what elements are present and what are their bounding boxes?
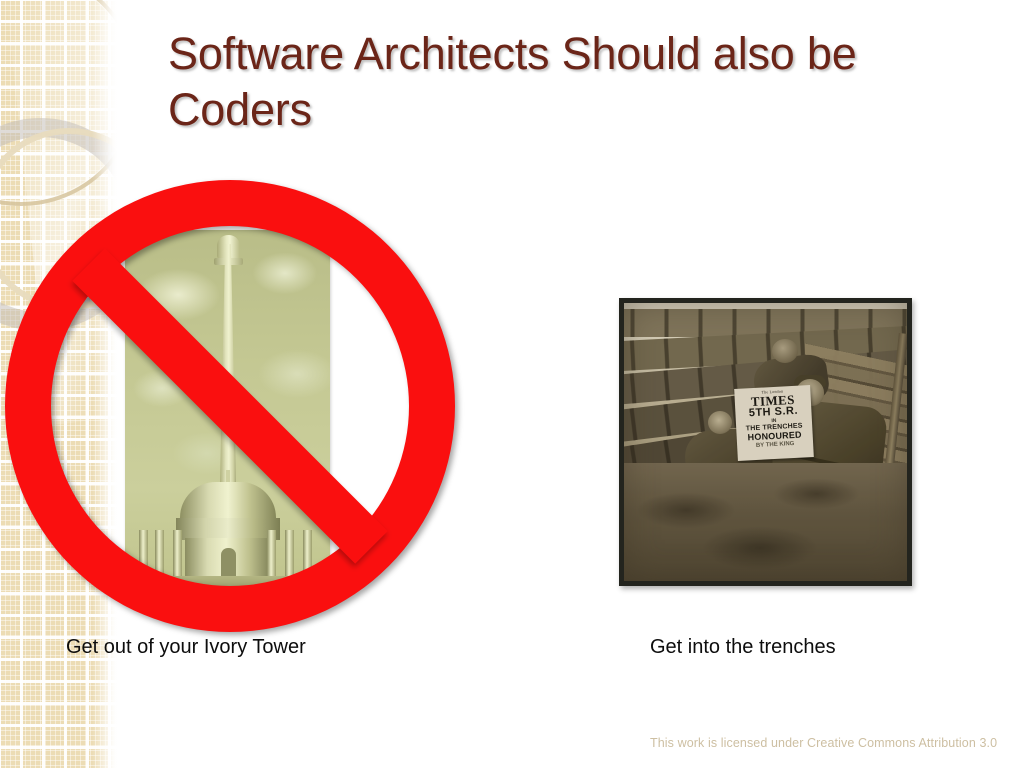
trench-photo-image: The London TIMES 5TH S.R. IN THE TRENCHE… bbox=[624, 303, 907, 581]
caption-ivory-tower: Get out of your Ivory Tower bbox=[66, 636, 306, 659]
ivory-tower-image bbox=[125, 230, 330, 590]
presentation-slide: Software Architects Should also be Coder… bbox=[0, 0, 1024, 768]
photo-vignette bbox=[624, 303, 907, 581]
caption-trenches: Get into the trenches bbox=[650, 636, 836, 659]
ivory-tower-figure bbox=[0, 172, 465, 642]
license-footer: This work is licensed under Creative Com… bbox=[650, 736, 997, 750]
slide-title: Software Architects Should also be Coder… bbox=[168, 26, 968, 138]
tower-vignette bbox=[125, 230, 330, 590]
trench-photo-frame: The London TIMES 5TH S.R. IN THE TRENCHE… bbox=[619, 298, 912, 586]
